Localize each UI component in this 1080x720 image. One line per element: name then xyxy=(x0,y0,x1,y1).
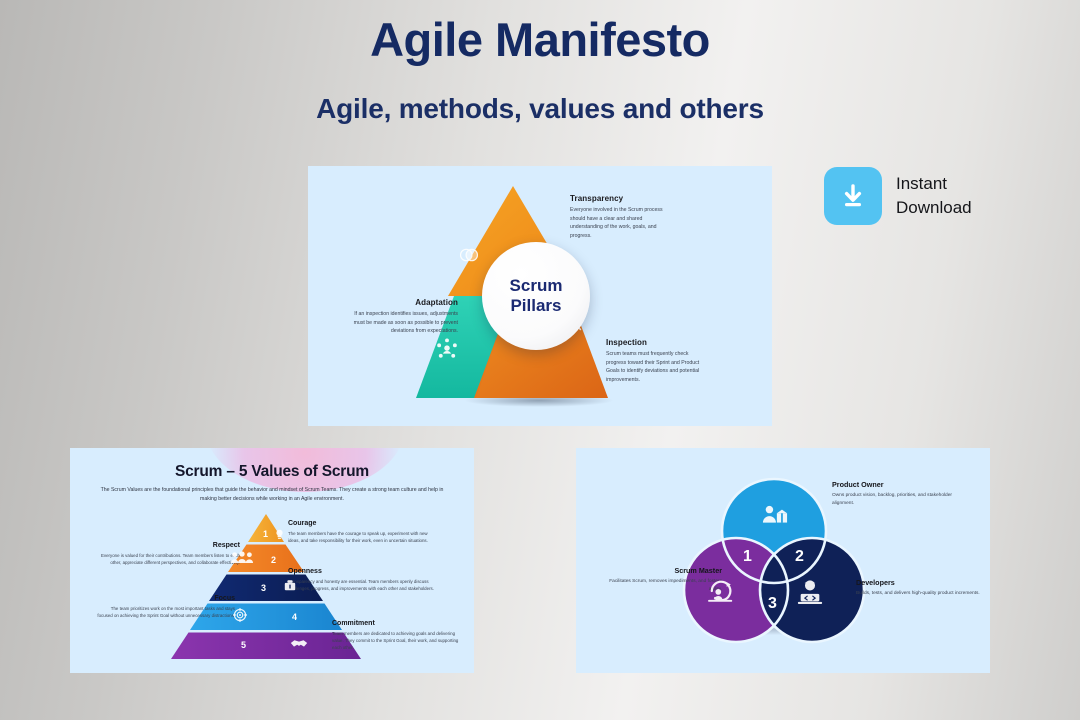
role-label-scrum-master[interactable]: Scrum Master Facilitates Scrum, removes … xyxy=(600,566,722,595)
overlapping-circles-icon xyxy=(458,244,480,271)
value-title: Openness xyxy=(288,568,434,575)
pyramid-number-4: 4 xyxy=(292,612,297,622)
value-title: Respect xyxy=(95,542,240,549)
value-body: Team members are dedicated to achieving … xyxy=(332,630,466,652)
pillar-title: Adaptation xyxy=(350,298,458,307)
megaphone-icon xyxy=(283,579,297,597)
page-title: Agile Manifesto xyxy=(0,14,1080,66)
value-body: The team prioritizes work on the most im… xyxy=(95,605,235,620)
role-body: Owns product vision, backlog, priorities… xyxy=(832,492,972,509)
value-label-respect[interactable]: Respect Everyone is valued for their con… xyxy=(95,542,240,566)
product-owner-icon xyxy=(760,504,790,535)
value-title: Focus xyxy=(95,595,235,602)
role-body: Facilitates Scrum, removes impediments, … xyxy=(600,578,722,595)
team-network-icon xyxy=(436,338,458,365)
value-body: The team members have the courage to spe… xyxy=(288,530,430,545)
value-title: Courage xyxy=(288,520,430,527)
pillar-title: Inspection xyxy=(606,338,710,347)
role-title: Scrum Master xyxy=(600,566,722,575)
value-label-courage[interactable]: Courage The team members have the courag… xyxy=(288,520,430,544)
download-label-line1: Instant xyxy=(896,172,972,196)
download-label: Instant Download xyxy=(896,172,972,220)
pyramid-number-3: 3 xyxy=(261,583,266,593)
center-line2: Pillars xyxy=(510,296,561,316)
pillar-body: Everyone involved in the Scrum process s… xyxy=(570,206,676,240)
venn-number-3: 3 xyxy=(768,595,777,613)
scrum-master-icon xyxy=(706,578,738,609)
page-header: Agile Manifesto Agile, methods, values a… xyxy=(0,14,1080,125)
value-body: Transparency and honesty are essential. … xyxy=(288,578,434,593)
scrum-values-card[interactable]: Scrum – 5 Values of Scrum The Scrum Valu… xyxy=(70,448,474,673)
handshake-icon xyxy=(289,637,309,655)
value-title: Commitment xyxy=(332,620,466,627)
download-icon[interactable] xyxy=(824,167,882,225)
page-subtitle: Agile, methods, values and others xyxy=(0,93,1080,125)
value-label-focus[interactable]: Focus The team prioritizes work on the m… xyxy=(95,595,235,619)
pillar-body: Scrum teams must frequently check progre… xyxy=(606,350,710,384)
pyramid-number-5: 5 xyxy=(241,640,246,650)
role-body: Builds, tests, and delivers high-quality… xyxy=(856,590,984,598)
role-label-product-owner[interactable]: Product Owner Owns product vision, backl… xyxy=(832,480,972,509)
pillars-diagram: Scrum Pillars Transparency Everyone invo… xyxy=(308,166,772,426)
center-line1: Scrum xyxy=(510,276,563,296)
venn-number-1: 1 xyxy=(743,548,752,566)
role-title: Developers xyxy=(856,578,984,587)
pyramid-number-1: 1 xyxy=(263,529,268,539)
value-label-openness[interactable]: Openness Transparency and honesty are es… xyxy=(288,568,434,592)
scrum-roles-card[interactable]: 1 2 3 Product Owner Owns produ xyxy=(576,448,990,673)
scrum-pillars-card[interactable]: Scrum Pillars Transparency Everyone invo… xyxy=(308,166,772,426)
people-group-icon xyxy=(230,551,254,569)
role-title: Product Owner xyxy=(832,480,972,489)
pillar-body: If an inspection identifies issues, adju… xyxy=(350,310,458,336)
value-label-commitment[interactable]: Commitment Team members are dedicated to… xyxy=(332,620,466,652)
venn-number-2: 2 xyxy=(795,548,804,566)
pillar-label-adaptation[interactable]: Adaptation If an inspection identifies i… xyxy=(350,298,458,336)
lightbulb-icon xyxy=(275,527,284,545)
pillar-title: Transparency xyxy=(570,194,676,203)
pillar-label-inspection[interactable]: Inspection Scrum teams must frequently c… xyxy=(606,338,710,384)
pillar-label-transparency[interactable]: Transparency Everyone involved in the Sc… xyxy=(570,194,676,240)
instant-download-button[interactable]: Instant Download xyxy=(824,167,972,225)
target-icon xyxy=(233,608,247,627)
scrum-pillars-center: Scrum Pillars xyxy=(482,242,590,350)
role-label-developers[interactable]: Developers Builds, tests, and delivers h… xyxy=(856,578,984,598)
pyramid-number-2: 2 xyxy=(271,555,276,565)
download-label-line2: Download xyxy=(896,196,972,220)
value-body: Everyone is valued for their contributio… xyxy=(95,552,240,567)
developer-icon xyxy=(795,578,825,611)
